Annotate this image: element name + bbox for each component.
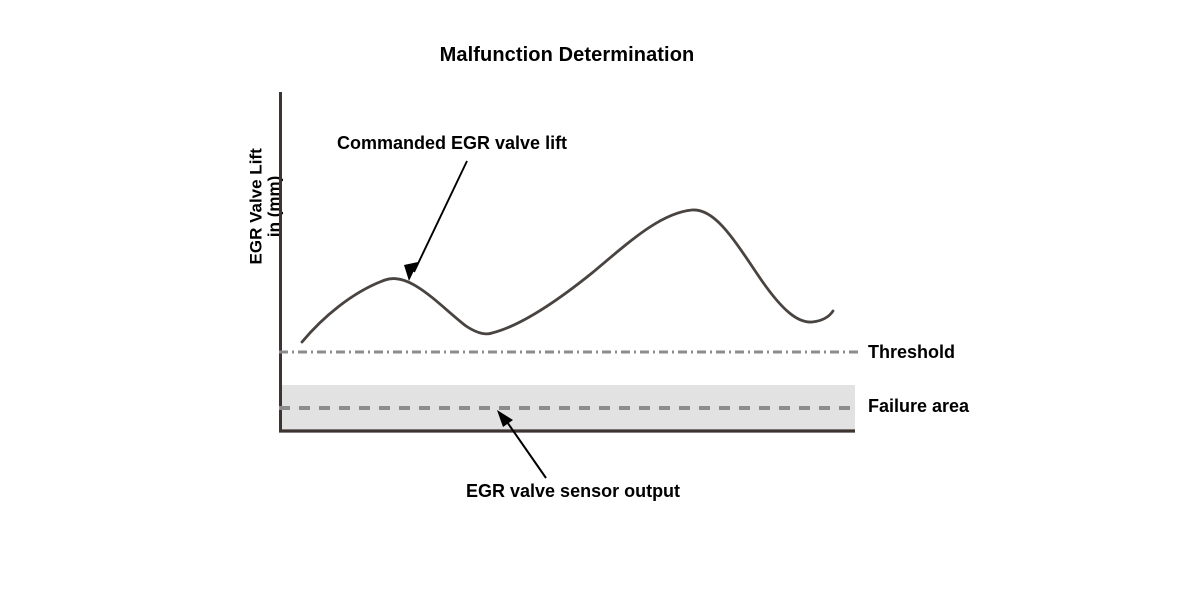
commanded-lift-curve	[302, 210, 833, 342]
commanded-lift-callout-arrow	[404, 161, 467, 281]
figure-canvas: Malfunction Determination EGR Valve Lift…	[0, 0, 1200, 590]
annotation-sensor-output: EGR valve sensor output	[466, 481, 680, 502]
annotation-failure-area: Failure area	[868, 396, 969, 417]
annotation-threshold: Threshold	[868, 342, 955, 363]
annotation-commanded-lift: Commanded EGR valve lift	[337, 133, 567, 154]
